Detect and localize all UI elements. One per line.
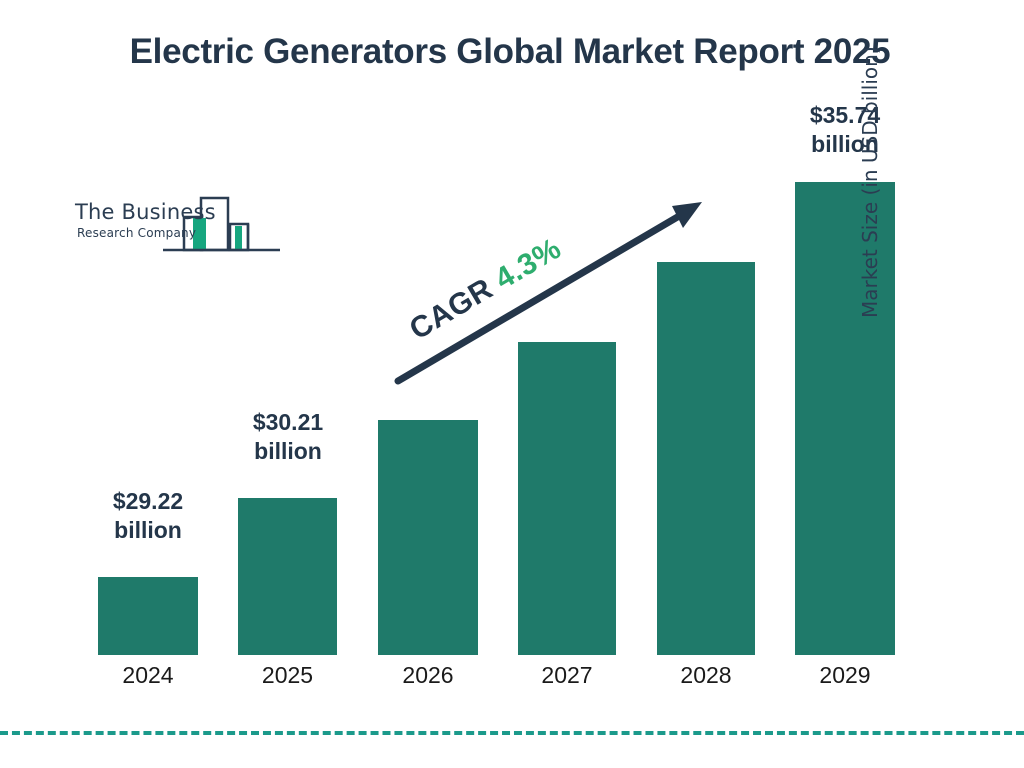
xaxis-tick-2025: 2025: [228, 662, 348, 689]
cagr-value: 4.3%: [489, 232, 566, 296]
bar-value-label-2025: $30.21 billion: [226, 408, 350, 466]
bar-2028: [657, 262, 755, 655]
bar-2027: [518, 342, 616, 655]
yaxis-title: Market Size (in USD billion): [858, 0, 882, 318]
footer-divider: [0, 731, 1024, 735]
bar-2025: [238, 498, 337, 655]
bar-value-label-2029: $35.74 billion: [783, 101, 907, 159]
bar-2024: [98, 577, 198, 655]
bar-chart: $29.22 billion $30.21 billion $35.74 bil…: [0, 0, 1024, 768]
bar-value-label-2024: $29.22 billion: [86, 487, 210, 545]
cagr-annotation: CAGR 4.3%: [404, 232, 567, 347]
chart-page: Electric Generators Global Market Report…: [0, 0, 1024, 768]
bar-2026: [378, 420, 478, 655]
xaxis-tick-2029: 2029: [785, 662, 905, 689]
xaxis-tick-2024: 2024: [88, 662, 208, 689]
xaxis-tick-2027: 2027: [507, 662, 627, 689]
xaxis-tick-2026: 2026: [368, 662, 488, 689]
cagr-label: CAGR: [404, 272, 499, 346]
xaxis-tick-2028: 2028: [646, 662, 766, 689]
